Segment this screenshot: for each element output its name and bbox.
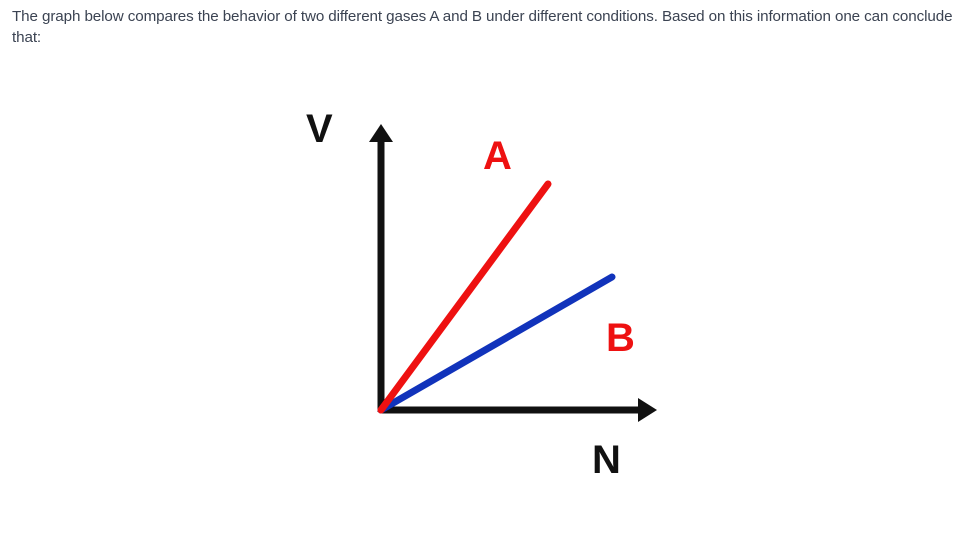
question-text: The graph below compares the behavior of… xyxy=(12,6,958,48)
series-line-b xyxy=(381,277,612,410)
x-axis-arrowhead xyxy=(638,398,657,422)
series-line-a xyxy=(381,184,548,410)
series-label-b: B xyxy=(606,318,635,358)
y-axis-label: V xyxy=(306,109,333,149)
y-axis-arrowhead xyxy=(369,124,393,142)
graph-svg xyxy=(0,60,975,544)
graph-figure: V N A B xyxy=(0,60,975,544)
series-label-a: A xyxy=(483,136,512,176)
x-axis-label: N xyxy=(592,440,621,480)
